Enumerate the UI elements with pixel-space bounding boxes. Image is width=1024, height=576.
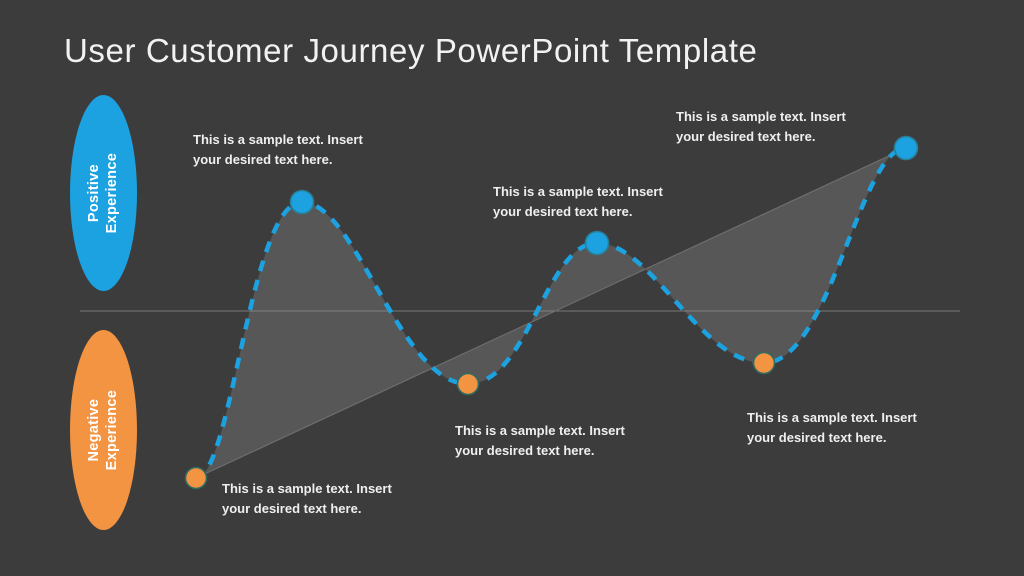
annotation-note-1[interactable]: This is a sample text. Insert your desir… [222, 479, 422, 519]
axis-band-positive-experience[interactable]: Positive Experience [70, 95, 137, 291]
data-point-3[interactable] [458, 374, 479, 395]
positive-label-line2: Experience [105, 153, 121, 233]
journey-chart [0, 0, 1024, 576]
annotation-note-2[interactable]: This is a sample text. Insert your desir… [193, 130, 393, 170]
negative-label-line2: Experience [105, 390, 121, 470]
negative-label-line1: Negative [86, 399, 102, 462]
annotation-note-6[interactable]: This is a sample text. Insert your desir… [676, 107, 876, 147]
axis-band-positive-label: Positive Experience [85, 153, 121, 233]
data-point-6[interactable] [895, 137, 918, 160]
positive-label-line1: Positive [86, 164, 102, 222]
axis-band-negative-experience[interactable]: Negative Experience [70, 330, 137, 530]
data-point-2[interactable] [291, 191, 314, 214]
data-point-4[interactable] [586, 232, 609, 255]
data-point-1[interactable] [186, 468, 207, 489]
annotation-note-4[interactable]: This is a sample text. Insert your desir… [493, 182, 693, 222]
annotation-note-3[interactable]: This is a sample text. Insert your desir… [455, 421, 655, 461]
annotation-note-5[interactable]: This is a sample text. Insert your desir… [747, 408, 947, 448]
data-point-5[interactable] [754, 353, 775, 374]
slide-canvas: User Customer Journey PowerPoint Templat… [0, 0, 1024, 576]
axis-band-negative-label: Negative Experience [85, 390, 121, 470]
